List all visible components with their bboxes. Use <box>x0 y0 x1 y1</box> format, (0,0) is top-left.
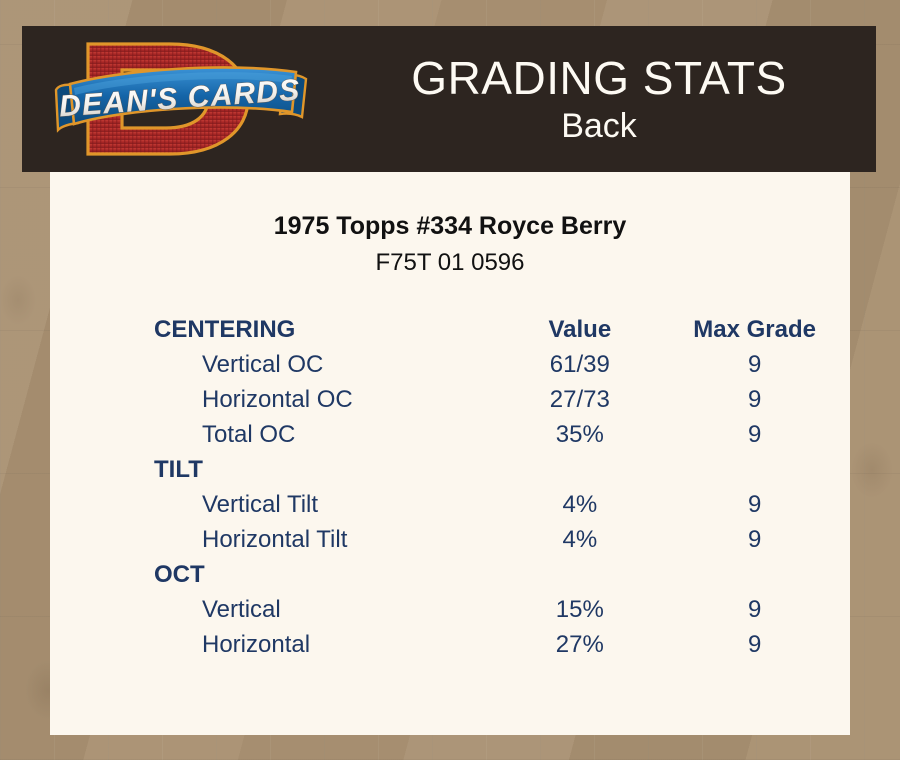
stat-max-grade: 9 <box>659 487 850 522</box>
stat-value: 4% <box>500 487 659 522</box>
table-row: Horizontal Tilt4%9 <box>50 522 850 557</box>
header-bar: DEAN'S CARDS GRADING STATS Back <box>22 26 876 172</box>
table-row: Vertical OC61/399 <box>50 347 850 382</box>
stat-label: Horizontal OC <box>50 382 500 417</box>
table-row: Vertical Tilt4%9 <box>50 487 850 522</box>
stat-value: 15% <box>500 592 659 627</box>
grading-stats-table: CENTERINGValueMax GradeVertical OC61/399… <box>50 312 850 662</box>
stat-value: 35% <box>500 417 659 452</box>
content-panel: 1975 Topps #334 Royce Berry F75T 01 0596… <box>50 172 850 735</box>
table-header-row: CENTERINGValueMax Grade <box>50 312 850 347</box>
section-header-oct: OCT <box>50 557 850 592</box>
stat-label: Horizontal <box>50 627 500 662</box>
stat-max-grade: 9 <box>659 347 850 382</box>
section-label: OCT <box>50 557 500 592</box>
stat-max-grade: 9 <box>659 522 850 557</box>
section-value-spacer <box>500 557 659 592</box>
section-label: TILT <box>50 452 500 487</box>
stat-max-grade: 9 <box>659 627 850 662</box>
logo-artwork: DEAN'S CARDS <box>52 28 312 170</box>
card-title: 1975 Topps #334 Royce Berry <box>50 210 850 242</box>
section-grade-spacer <box>659 452 850 487</box>
table-row: Horizontal OC27/739 <box>50 382 850 417</box>
table-row: Vertical15%9 <box>50 592 850 627</box>
section-value-spacer <box>500 452 659 487</box>
deans-cards-logo[interactable]: DEAN'S CARDS <box>52 28 312 170</box>
table-row: Horizontal27%9 <box>50 627 850 662</box>
stat-value: 4% <box>500 522 659 557</box>
column-header-value: Value <box>500 312 659 347</box>
stat-value: 61/39 <box>500 347 659 382</box>
header-title-group: GRADING STATS Back <box>322 26 876 172</box>
stat-max-grade: 9 <box>659 417 850 452</box>
stat-max-grade: 9 <box>659 382 850 417</box>
stat-value: 27% <box>500 627 659 662</box>
page-title: GRADING STATS <box>411 51 786 105</box>
stat-label: Vertical Tilt <box>50 487 500 522</box>
stat-value: 27/73 <box>500 382 659 417</box>
column-header-centering: CENTERING <box>50 312 500 347</box>
stat-max-grade: 9 <box>659 592 850 627</box>
stat-label: Vertical OC <box>50 347 500 382</box>
section-header-tilt: TILT <box>50 452 850 487</box>
stat-label: Vertical <box>50 592 500 627</box>
section-grade-spacer <box>659 557 850 592</box>
column-header-max-grade: Max Grade <box>659 312 850 347</box>
stat-label: Horizontal Tilt <box>50 522 500 557</box>
page-subtitle: Back <box>561 105 637 147</box>
table-row: Total OC35%9 <box>50 417 850 452</box>
card-id: F75T 01 0596 <box>50 248 850 278</box>
stat-label: Total OC <box>50 417 500 452</box>
